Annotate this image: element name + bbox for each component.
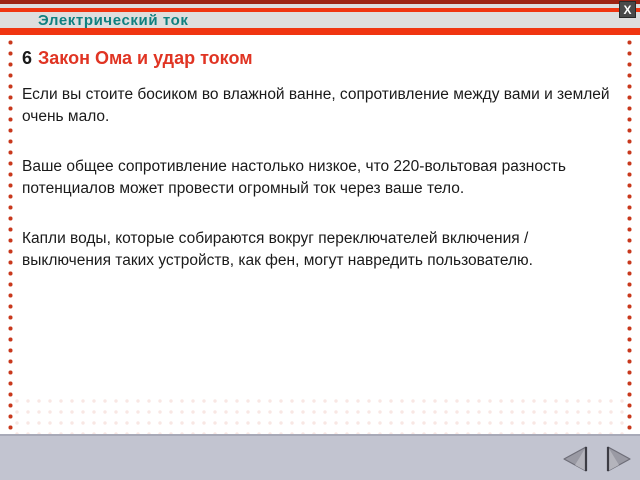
triangle-left-icon[interactable] — [560, 444, 594, 474]
header-title: Электрический ток — [38, 12, 189, 29]
close-icon[interactable]: X — [619, 1, 636, 18]
paragraph-2: Ваше общее сопротивление настолько низко… — [22, 156, 610, 200]
dotted-border-left — [8, 40, 13, 445]
presentation-slide: Электрический ток X 6Закон Ома и удар то… — [0, 0, 640, 480]
paragraph-1: Если вы стоите босиком во влажной ванне,… — [22, 84, 610, 128]
navigation-controls — [560, 444, 634, 474]
slide-number: 6 — [22, 48, 32, 68]
slide-header-bar: Электрический ток — [0, 0, 640, 35]
slide-content: 6Закон Ома и удар током Если вы стоите б… — [22, 48, 618, 272]
triangle-right-icon[interactable] — [600, 444, 634, 474]
slide-title-text: Закон Ома и удар током — [38, 48, 253, 68]
page-title: 6Закон Ома и удар током — [22, 48, 618, 70]
slide-footer-bar — [0, 434, 640, 480]
paragraph-3: Капли воды, которые собираются вокруг пе… — [22, 228, 610, 272]
dotted-border-right — [627, 40, 632, 445]
